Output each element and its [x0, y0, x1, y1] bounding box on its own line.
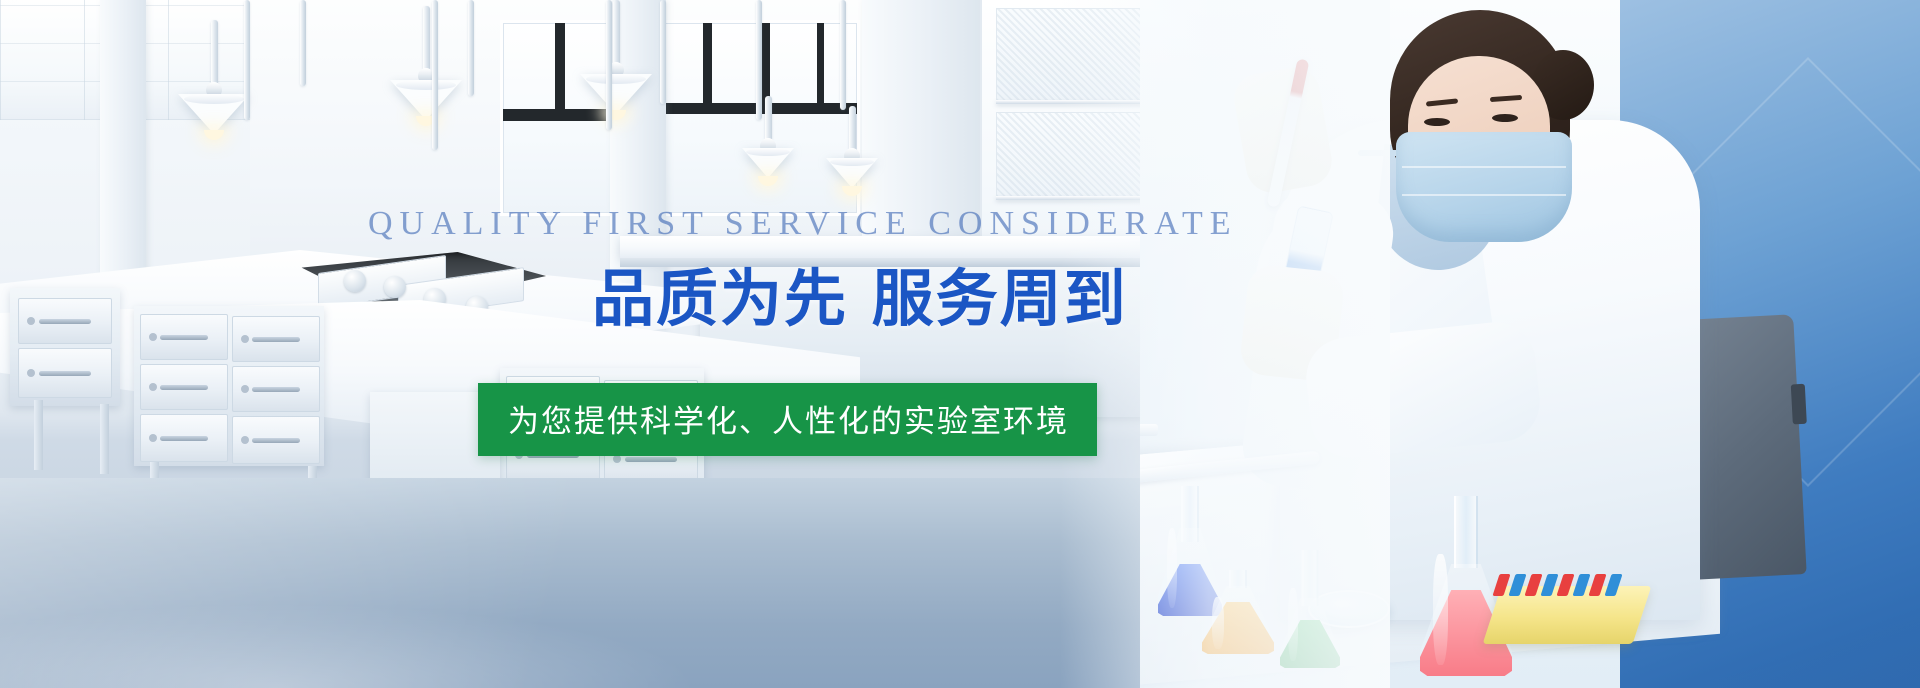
drawer[interactable] — [140, 314, 228, 360]
rack-tube — [1508, 574, 1526, 596]
drawer-lock — [613, 455, 621, 463]
lamp-shade — [826, 158, 878, 188]
rack-tube — [1556, 574, 1574, 596]
drawer-lock — [27, 317, 35, 325]
rack-tube — [1588, 574, 1606, 596]
lamp-shade — [580, 74, 652, 114]
service-drop-arm — [468, 0, 474, 96]
lamp-arm — [849, 106, 856, 154]
service-knob — [384, 276, 406, 298]
small-vial — [1140, 424, 1158, 436]
drawer[interactable] — [232, 366, 320, 412]
flask-highlight — [1288, 588, 1298, 661]
flask-green — [1280, 550, 1340, 668]
flask-orange — [1202, 570, 1274, 654]
drawer[interactable] — [232, 416, 320, 464]
subtitle-text: 为您提供科学化、人性化的实验室环境 — [508, 404, 1069, 440]
service-drop-arm — [660, 0, 666, 104]
drawer-lock — [241, 385, 249, 393]
cabinet-leg — [34, 400, 43, 470]
service-drop-arm — [244, 0, 250, 120]
service-knob — [344, 270, 366, 292]
lamp-bulb — [758, 176, 778, 186]
pendant-lamp — [390, 6, 462, 136]
floor-reflection — [0, 478, 1250, 688]
drawer-lock — [149, 333, 157, 341]
drawer-lock — [241, 436, 249, 444]
window-mullion — [817, 23, 824, 114]
lamp-arm — [423, 6, 430, 76]
service-drop-arm — [432, 0, 438, 150]
hero-banner: QUALITY FIRST SERVICE CONSIDERATE 品质为先 服… — [0, 0, 1920, 688]
drawer-lock — [149, 383, 157, 391]
flask-highlight — [1212, 597, 1224, 649]
eye — [1424, 118, 1450, 126]
subtitle-band: 为您提供科学化、人性化的实验室环境 — [478, 383, 1097, 456]
flask-neck — [1229, 570, 1247, 588]
drawer-lock — [27, 369, 35, 377]
rack-tube — [1572, 574, 1590, 596]
pendant-lamp — [580, 0, 652, 130]
window-mullion — [703, 23, 712, 114]
service-drop-arm — [606, 0, 612, 130]
lamp-shade — [390, 80, 462, 120]
lower-arm — [1302, 318, 1543, 461]
wall-column-near — [100, 0, 146, 290]
english-tagline: QUALITY FIRST SERVICE CONSIDERATE — [368, 205, 1238, 243]
drawer[interactable] — [18, 298, 112, 344]
window-mullion — [555, 23, 565, 121]
lamp-arm — [211, 20, 218, 90]
flask-highlight — [1167, 528, 1177, 609]
rack-tube-row — [1492, 574, 1622, 596]
drawer[interactable] — [18, 348, 112, 398]
scientist-photo — [1140, 0, 1920, 688]
face-mask — [1396, 132, 1572, 242]
flask-highlight — [1433, 554, 1448, 666]
cabinet-left — [10, 288, 120, 406]
lamp-shade — [742, 148, 794, 178]
lamp-bulb — [204, 130, 224, 140]
lamp-arm — [613, 0, 620, 70]
pendant-lamp — [742, 96, 794, 196]
lamp-bulb — [842, 186, 862, 196]
drawer[interactable] — [140, 414, 228, 462]
pendant-lamp — [178, 20, 250, 150]
drawer[interactable] — [232, 316, 320, 362]
lamp-shade — [178, 94, 250, 134]
service-drop-arm — [300, 0, 306, 86]
service-drop-arm — [756, 0, 762, 120]
service-drop-arm — [840, 0, 846, 110]
drawer-lock — [149, 434, 157, 442]
eye — [1492, 114, 1518, 122]
pendant-lamp — [826, 106, 878, 206]
flask-neck — [1454, 496, 1478, 568]
rack-tube — [1540, 574, 1558, 596]
lamp-arm — [765, 96, 772, 144]
rack-tube — [1524, 574, 1542, 596]
flask-neck — [1302, 550, 1319, 606]
cabinet-bank-center — [134, 306, 324, 466]
banner-headline: 品质为先 服务周到 — [592, 248, 1128, 338]
cabinet-leg — [100, 404, 109, 474]
drawer-lock — [241, 335, 249, 343]
drawer[interactable] — [140, 364, 228, 410]
